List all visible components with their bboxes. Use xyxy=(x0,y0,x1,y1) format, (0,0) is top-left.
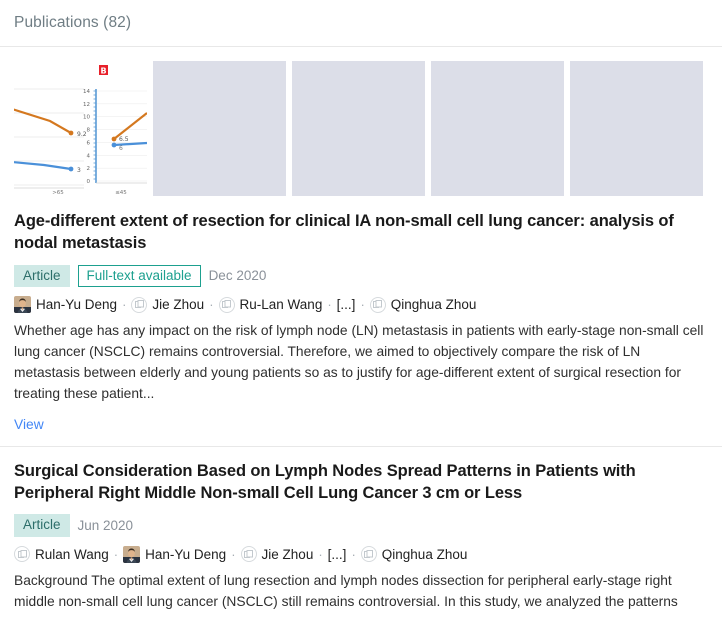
author-name[interactable]: Ru-Lan Wang xyxy=(240,297,323,312)
publication-item: Surgical Consideration Based on Lymph No… xyxy=(0,447,722,613)
figure-thumbnail-5[interactable] xyxy=(570,61,703,196)
svg-text:6: 6 xyxy=(119,145,123,152)
page-title: Publications (82) xyxy=(14,14,131,32)
svg-text:≤45: ≤45 xyxy=(115,190,127,196)
figure-thumbnail-1[interactable]: 9.23>65B024681012146.56≤45 xyxy=(14,61,147,196)
author[interactable]: Qinghua Zhou xyxy=(370,297,477,313)
author-separator: · xyxy=(109,547,123,562)
author-placeholder-icon xyxy=(131,297,147,313)
publication-abstract: Whether age has any impact on the risk o… xyxy=(14,321,704,405)
figure-thumbnail-2[interactable] xyxy=(153,61,286,196)
svg-text:6.5: 6.5 xyxy=(119,136,129,143)
author-placeholder-icon xyxy=(370,297,386,313)
author-separator: · xyxy=(346,547,360,562)
figure-thumbnail-4[interactable] xyxy=(431,61,564,196)
author-name[interactable]: Jie Zhou xyxy=(152,297,204,312)
svg-text:6: 6 xyxy=(87,140,91,146)
author-placeholder-icon xyxy=(241,546,257,562)
authors-more-button[interactable]: [...] xyxy=(328,547,347,562)
author-separator: · xyxy=(322,297,336,312)
svg-text:14: 14 xyxy=(83,89,90,95)
publication-date: Jun 2020 xyxy=(78,518,134,533)
avatar xyxy=(14,296,31,313)
author-name[interactable]: Rulan Wang xyxy=(35,547,109,562)
svg-text:B: B xyxy=(100,67,106,76)
author[interactable]: Ru-Lan Wang xyxy=(219,297,323,313)
view-link[interactable]: View xyxy=(14,417,44,432)
svg-text:2: 2 xyxy=(87,166,91,172)
author-separator: · xyxy=(226,547,240,562)
svg-text:8: 8 xyxy=(87,128,91,134)
svg-text:>65: >65 xyxy=(52,190,64,196)
svg-text:12: 12 xyxy=(83,102,90,108)
svg-text:4: 4 xyxy=(87,153,91,159)
publication-title[interactable]: Surgical Consideration Based on Lymph No… xyxy=(14,461,708,505)
author[interactable]: Qinghua Zhou xyxy=(361,546,468,562)
author-name[interactable]: Qinghua Zhou xyxy=(391,297,477,312)
author-placeholder-icon xyxy=(219,297,235,313)
publication-title[interactable]: Age-different extent of resection for cl… xyxy=(14,211,708,255)
author-separator: · xyxy=(117,297,131,312)
figure-thumbnail-strip: 9.23>65B024681012146.56≤45 xyxy=(14,61,708,196)
publication-list: 9.23>65B024681012146.56≤45Age-different … xyxy=(0,47,722,613)
publication-meta-row: ArticleFull-text availableDec 2020 xyxy=(14,265,708,288)
author-name[interactable]: Qinghua Zhou xyxy=(382,547,468,562)
publication-meta-row: ArticleJun 2020 xyxy=(14,514,708,537)
svg-text:0: 0 xyxy=(87,179,91,185)
author-separator: · xyxy=(313,547,327,562)
svg-text:9.2: 9.2 xyxy=(77,131,87,138)
svg-text:3: 3 xyxy=(77,167,81,174)
avatar xyxy=(123,546,140,563)
svg-text:10: 10 xyxy=(83,115,90,121)
publication-abstract: Background The optimal extent of lung re… xyxy=(14,571,704,613)
publication-date: Dec 2020 xyxy=(209,268,267,283)
authors-row: Han-Yu Deng·Jie Zhou·Ru-Lan Wang·[...]·Q… xyxy=(14,296,708,313)
author[interactable]: Jie Zhou xyxy=(241,546,314,562)
author-placeholder-icon xyxy=(361,546,377,562)
author-name[interactable]: Han-Yu Deng xyxy=(36,297,117,312)
full-text-available-badge[interactable]: Full-text available xyxy=(78,265,201,288)
author-name[interactable]: Han-Yu Deng xyxy=(145,547,226,562)
publication-item: 9.23>65B024681012146.56≤45Age-different … xyxy=(0,47,722,446)
author-separator: · xyxy=(355,297,369,312)
authors-more-button[interactable]: [...] xyxy=(337,297,356,312)
author[interactable]: Jie Zhou xyxy=(131,297,204,313)
author-name[interactable]: Jie Zhou xyxy=(262,547,314,562)
figure-thumbnail-3[interactable] xyxy=(292,61,425,196)
author[interactable]: Rulan Wang xyxy=(14,546,109,562)
author-separator: · xyxy=(204,297,218,312)
publications-section-header: Publications (82) xyxy=(0,0,722,47)
publication-type-badge: Article xyxy=(14,265,70,288)
publication-type-badge: Article xyxy=(14,514,70,537)
author-placeholder-icon xyxy=(14,546,30,562)
author[interactable]: Han-Yu Deng xyxy=(14,296,117,313)
authors-row: Rulan Wang·Han-Yu Deng·Jie Zhou·[...]·Qi… xyxy=(14,546,708,563)
author[interactable]: Han-Yu Deng xyxy=(123,546,226,563)
publications-page: Publications (82) 9.23>65B024681012146.5… xyxy=(0,0,722,625)
